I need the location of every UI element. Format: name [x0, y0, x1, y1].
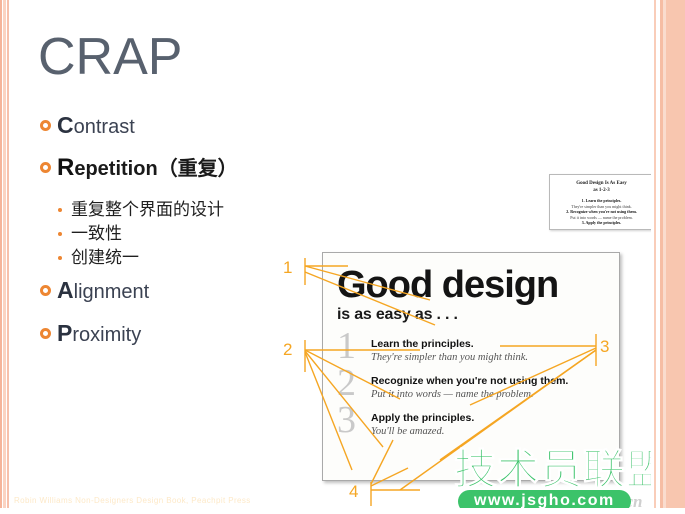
- sub-item-label: 一致性: [71, 223, 122, 244]
- list-item-rest: epetition（重复）: [74, 158, 237, 180]
- list-item-rest: lignment: [74, 281, 150, 303]
- picture-item-italic: You'll be amazed.: [371, 425, 474, 438]
- list-item: 创建统一: [58, 247, 320, 268]
- watermark: m.cn 技术员联盟 www.jsgho.com: [436, 452, 685, 514]
- page-title: CRAP: [38, 28, 182, 86]
- list-item-text: Contrast: [57, 114, 135, 138]
- list-item: 一致性: [58, 223, 320, 244]
- picture-item: 2 Recognize when you're not using them. …: [337, 375, 619, 401]
- list-item-rest: ontrast: [74, 116, 135, 138]
- list-item-text: Alignment: [57, 279, 149, 303]
- list-item-text: Repetition（重复）: [57, 157, 238, 180]
- picture-item-bold: Recognize when you're not using them.: [371, 375, 568, 388]
- callout-label-2: 2: [283, 340, 292, 360]
- picture-item-italic: Put it into words — name the problem.: [371, 388, 568, 401]
- dot-bullet-icon: [58, 232, 62, 236]
- callout-label-3: 3: [600, 337, 609, 357]
- picture-item: 3 Apply the principles. You'll be amazed…: [337, 412, 619, 438]
- slide-footer: Robin Williams Non-Designers Design Book…: [14, 496, 251, 505]
- watermark-brand: 技术员联盟: [454, 448, 669, 492]
- list-item: Contrast: [40, 114, 320, 138]
- picture-item-number: 3: [337, 405, 371, 435]
- picture-item-bold: Apply the principles.: [371, 412, 474, 425]
- picture-item-list: 1 Learn the principles. They're simpler …: [337, 338, 619, 438]
- thumbnail-line: 3. Apply the principles.: [550, 220, 653, 226]
- drop-cap: R: [57, 154, 74, 181]
- dot-bullet-icon: [58, 208, 62, 212]
- drop-cap: A: [57, 277, 74, 303]
- callout-label-1: 1: [283, 258, 292, 278]
- list-item: Alignment: [40, 279, 320, 303]
- dot-bullet-icon: [58, 256, 62, 260]
- picture-item-number: 1: [337, 331, 371, 361]
- ring-bullet-icon: [40, 285, 51, 296]
- outline-list: Contrast Repetition（重复） 重复整个界面的设计 一致性 创建…: [40, 114, 320, 365]
- picture-item-number: 2: [337, 368, 371, 398]
- slide-canvas: CRAP Contrast Repetition（重复） 重复整个界面的设计 一…: [0, 0, 685, 514]
- picture-headline: Good design: [337, 265, 619, 305]
- list-item-text: Proximity: [57, 322, 141, 346]
- list-item-rest: roximity: [72, 324, 141, 346]
- sub-item-label: 重复整个界面的设计: [71, 199, 224, 220]
- drop-cap: C: [57, 112, 74, 138]
- picture-item: 1 Learn the principles. They're simpler …: [337, 338, 619, 364]
- thumbnail-card: Good Design Is As Easy as 1-2-3 1. Learn…: [549, 174, 654, 230]
- thumbnail-title-line2: as 1-2-3: [550, 188, 653, 195]
- bottom-strip: [0, 508, 685, 514]
- sub-item-label: 创建统一: [71, 247, 139, 268]
- picture-subheadline: is as easy as . . .: [337, 306, 619, 324]
- drop-cap: P: [57, 320, 72, 346]
- callout-label-4: 4: [349, 482, 358, 502]
- picture-item-bold: Learn the principles.: [371, 338, 528, 351]
- ring-bullet-icon: [40, 120, 51, 131]
- picture-item-italic: They're simpler than you might think.: [371, 351, 528, 364]
- list-item: Proximity: [40, 322, 320, 346]
- list-item: Repetition（重复）: [40, 157, 320, 180]
- list-item: 重复整个界面的设计: [58, 199, 320, 220]
- right-edge-decoration: [651, 0, 685, 514]
- ring-bullet-icon: [40, 328, 51, 339]
- sub-list: 重复整个界面的设计 一致性 创建统一: [58, 199, 320, 268]
- ring-bullet-icon: [40, 162, 51, 173]
- left-edge-decoration: [0, 0, 9, 514]
